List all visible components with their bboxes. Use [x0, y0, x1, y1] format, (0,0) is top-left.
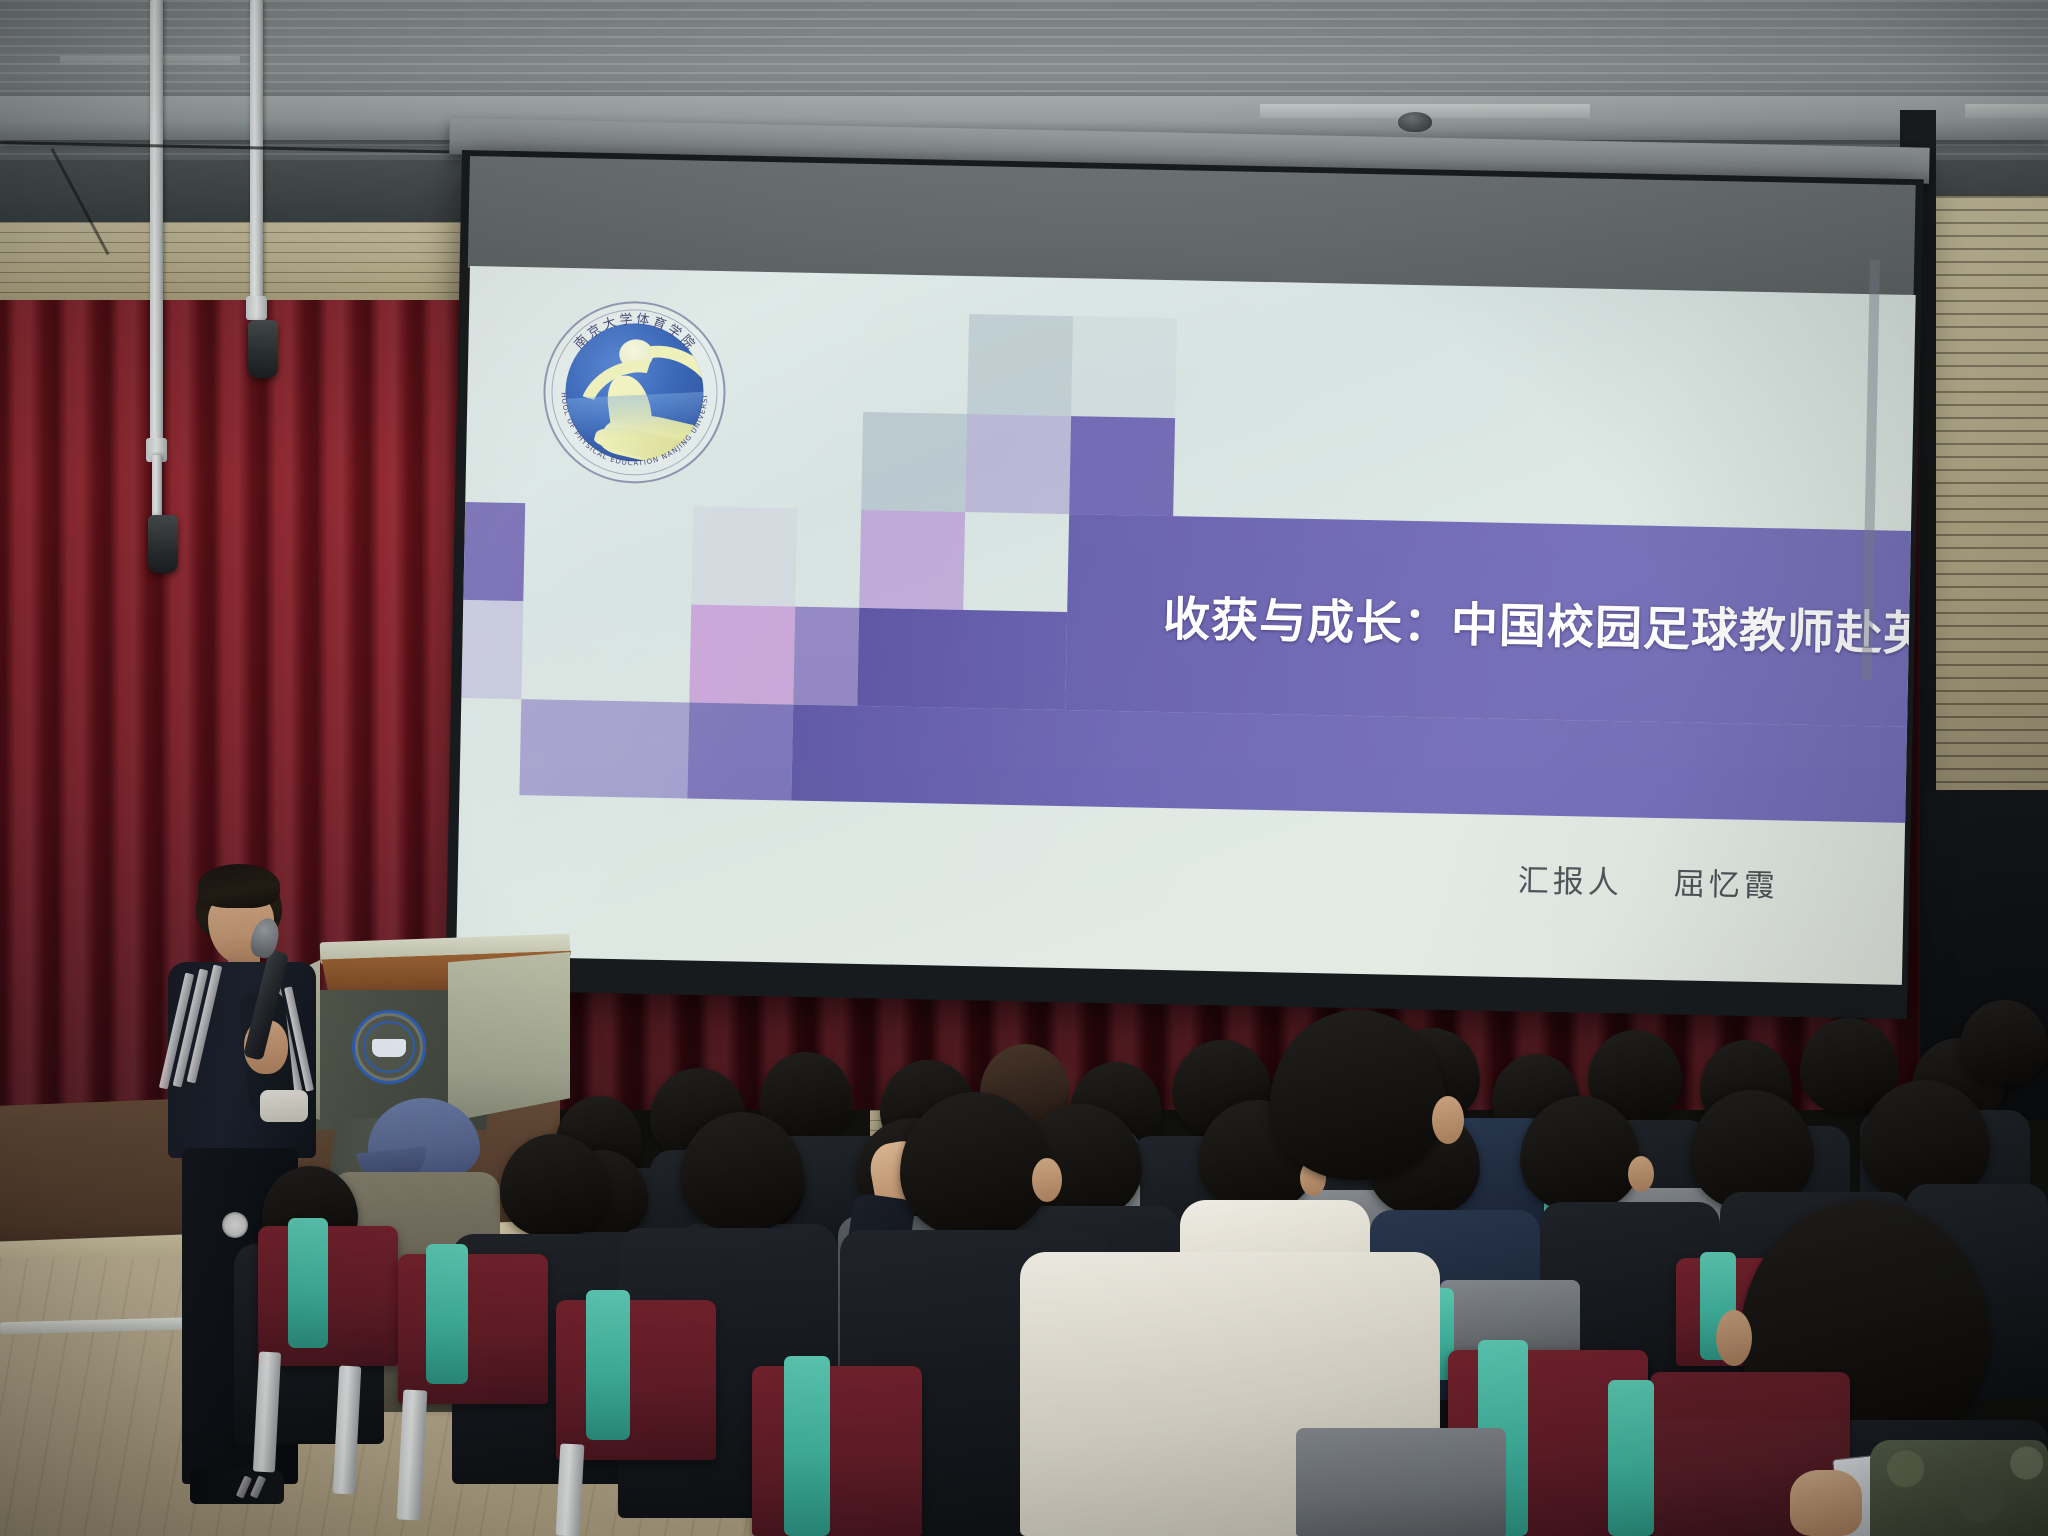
school-emblem: 南京大学体育学院 SCHOOL OF PHYSICAL EDUCATION NA…	[542, 300, 728, 486]
slide-canvas: 南京大学体育学院 SCHOOL OF PHYSICAL EDUCATION NA…	[456, 266, 1916, 985]
hanging-speaker-fixture-right	[248, 320, 278, 378]
audience-body-camo	[1870, 1440, 2048, 1536]
projected-slide: 南京大学体育学院 SCHOOL OF PHYSICAL EDUCATION NA…	[456, 266, 1916, 985]
podium-side-panel	[448, 952, 570, 1122]
speaker-trouser-logo	[222, 1212, 248, 1238]
slide-title-band-extend	[857, 608, 1067, 710]
emblem-ring-text: 南京大学体育学院 SCHOOL OF PHYSICAL EDUCATION NA…	[542, 300, 728, 486]
mosaic-square	[691, 507, 797, 607]
slide-presenter-label: 汇报人	[1517, 855, 1623, 902]
seat-armrest	[784, 1356, 830, 1536]
mosaic-square	[689, 605, 795, 705]
hanging-speaker-fixture-left	[148, 515, 178, 573]
mosaic-square	[859, 510, 965, 610]
seat-armrest	[1608, 1380, 1654, 1536]
mosaic-square	[793, 607, 859, 706]
dome-camera-icon	[1398, 112, 1432, 132]
auditorium-photo: 南京大学体育学院 SCHOOL OF PHYSICAL EDUCATION NA…	[0, 0, 2048, 1536]
mosaic-square	[463, 502, 525, 601]
seat-back	[556, 1300, 716, 1460]
mosaic-square	[519, 699, 689, 798]
seat-back	[398, 1254, 548, 1404]
speaker-shoe	[190, 1468, 284, 1504]
hanging-pole-left	[150, 0, 163, 440]
speaker-hand-left	[260, 1090, 308, 1122]
pole-joint	[246, 296, 267, 320]
mosaic-square	[965, 414, 1071, 514]
ceiling-light-vent	[1965, 104, 2048, 118]
mosaic-square	[461, 600, 523, 699]
seat-cushion	[1296, 1428, 1506, 1536]
audience-head	[1960, 1000, 2048, 1086]
mosaic-square	[687, 702, 793, 800]
wood-slat-wall-right	[1922, 196, 2048, 796]
seat-armrest	[426, 1244, 468, 1384]
mosaic-square	[967, 314, 1073, 416]
audience-hand-holding-phone	[1790, 1470, 1862, 1536]
seat-leg	[556, 1443, 585, 1536]
emblem-ring-text-cn: 南京大学体育学院	[571, 310, 700, 355]
seat-back	[258, 1226, 398, 1366]
svg-text:南京大学体育学院: 南京大学体育学院	[571, 310, 700, 355]
audience-ear	[1032, 1158, 1062, 1202]
audience-ear	[1628, 1156, 1654, 1192]
hanging-pole-left-lower	[152, 455, 162, 520]
mosaic-square	[1069, 416, 1175, 516]
audience-ear	[1716, 1310, 1752, 1366]
seat-back	[752, 1366, 922, 1536]
seat-armrest	[288, 1218, 328, 1348]
mosaic-square	[1071, 316, 1177, 418]
speaker-hair-fringe	[198, 864, 280, 908]
audience-ear	[1432, 1096, 1464, 1144]
hanging-pole-right	[250, 0, 263, 300]
podium-crest-book-icon	[372, 1039, 406, 1057]
mosaic-square	[861, 412, 967, 512]
seat-armrest	[586, 1290, 630, 1440]
slide-presenter-name: 屈忆霞	[1673, 858, 1779, 905]
podium-university-crest	[352, 1010, 426, 1084]
